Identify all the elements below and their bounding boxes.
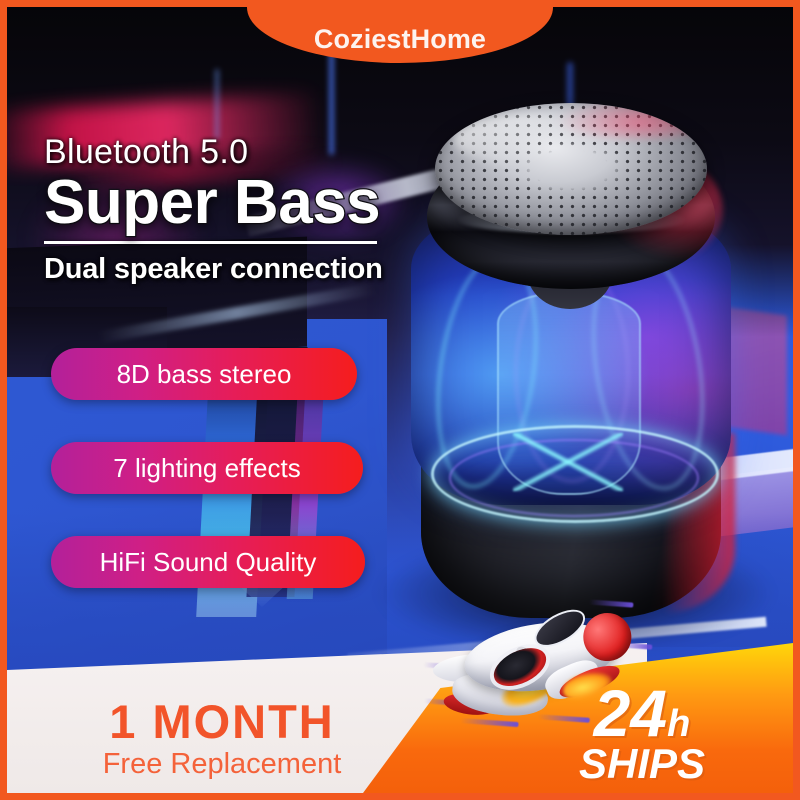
promo-banner: 1 MONTH Free Replacement 24h SHIPS bbox=[7, 643, 793, 793]
product-advertisement: CoziestHome Bluetooth 5.0 Super Bass Dua… bbox=[0, 0, 800, 800]
shipping-unit: h bbox=[667, 703, 690, 745]
speaker-top-grille bbox=[435, 103, 707, 235]
ad-stage: CoziestHome Bluetooth 5.0 Super Bass Dua… bbox=[7, 7, 793, 793]
warranty-note: Free Replacement bbox=[7, 750, 437, 779]
speaker-led-star-flare bbox=[513, 433, 623, 491]
feature-pill: 7 lighting effects bbox=[51, 442, 363, 494]
feature-pill-list: 8D bass stereo 7 lighting effects HiFi S… bbox=[51, 348, 365, 630]
speed-line bbox=[460, 718, 518, 727]
headline-eyebrow: Bluetooth 5.0 bbox=[44, 135, 404, 169]
speed-line bbox=[538, 714, 590, 723]
speed-line bbox=[589, 600, 633, 608]
product-speaker-image bbox=[405, 103, 735, 648]
feature-pill: 8D bass stereo bbox=[51, 348, 357, 400]
shipping-label: SHIPS bbox=[517, 743, 767, 785]
background-neon-bar bbox=[215, 69, 219, 139]
warranty-text-group: 1 MONTH Free Replacement bbox=[7, 698, 437, 779]
feature-pill: HiFi Sound Quality bbox=[51, 536, 365, 588]
headline-block: Bluetooth 5.0 Super Bass Dual speaker co… bbox=[44, 135, 404, 286]
warranty-duration: 1 MONTH bbox=[7, 698, 437, 745]
headline-title: Super Bass bbox=[44, 171, 404, 234]
headline-divider bbox=[44, 241, 377, 244]
headline-subtitle: Dual speaker connection bbox=[44, 253, 404, 286]
brand-name: CoziestHome bbox=[314, 24, 486, 55]
